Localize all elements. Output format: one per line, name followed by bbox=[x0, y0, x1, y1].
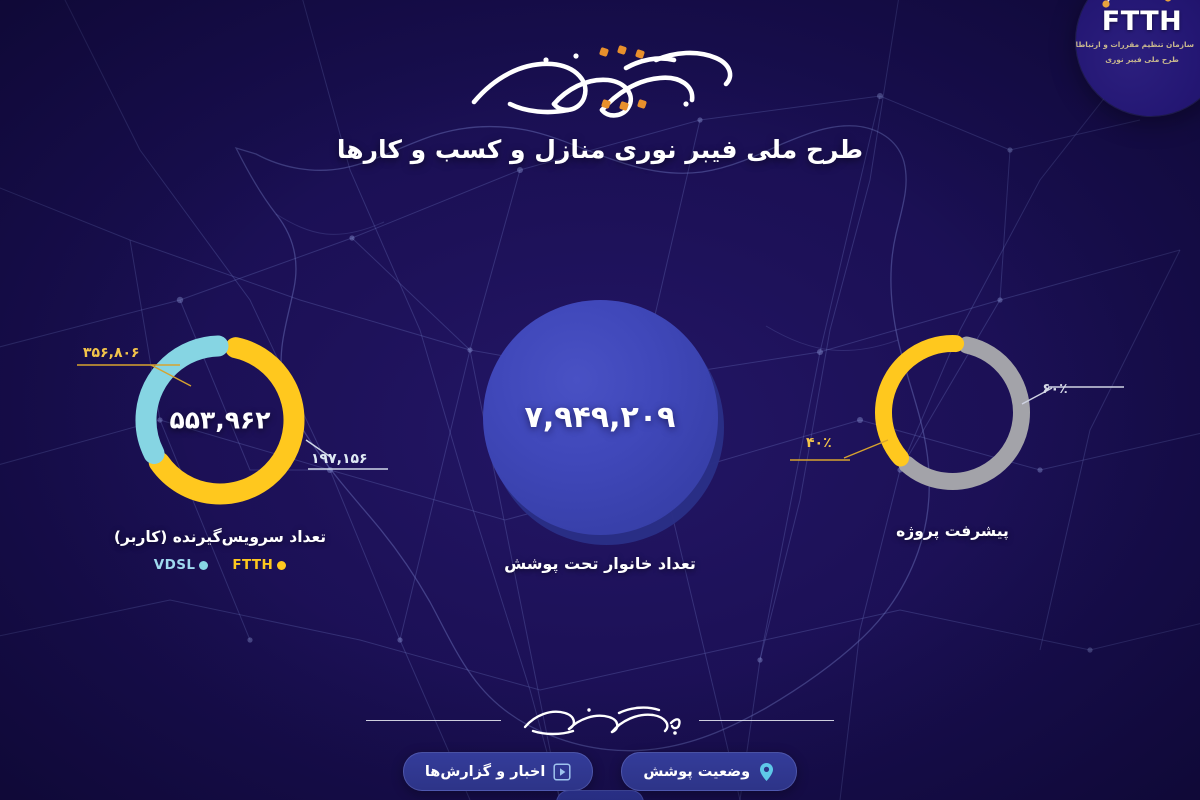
legend-label-vdsl: VDSL bbox=[154, 557, 196, 573]
page-title: طرح ملی فیبر نوری منازل و کسب و کارها bbox=[0, 135, 1200, 164]
progress-caption: پیشرفت پروژه bbox=[845, 522, 1060, 540]
footer-heading-script bbox=[515, 701, 685, 739]
progress-done-leader-line bbox=[788, 432, 893, 468]
progress-remaining-label: ۶۰٪ bbox=[1042, 381, 1068, 397]
legend-label-ftth: FTTH bbox=[232, 557, 273, 573]
subscribers-legend: VDSL FTTH bbox=[95, 557, 345, 573]
legend-item-vdsl: VDSL bbox=[154, 557, 209, 573]
households-caption: تعداد خانوار تحت پوشش bbox=[455, 554, 745, 573]
news-reports-label: اخبار و گزارش‌ها bbox=[425, 764, 546, 780]
legend-item-ftth: FTTH bbox=[232, 557, 286, 573]
households-stat-card: ۷,۹۴۹,۲۰۹ تعداد خانوار تحت پوشش bbox=[455, 300, 745, 573]
progress-remaining-leader-line bbox=[1018, 372, 1128, 412]
calligraphy-slogan bbox=[0, 38, 1200, 130]
legend-dot-vdsl bbox=[199, 561, 208, 570]
households-value: ۷,۹۴۹,۲۰۹ bbox=[525, 400, 676, 435]
ftth-callout-value: ۳۵۶,۸۰۶ bbox=[83, 345, 140, 361]
map-pin-icon bbox=[758, 762, 775, 782]
legend-dot-ftth bbox=[277, 561, 286, 570]
dashboard-stage: FTTH سازمان تنظیم مقررات و ارتباطات رادی… bbox=[0, 0, 1200, 800]
subscribers-caption: تعداد سرویس‌گیرنده (کاربر) bbox=[95, 528, 345, 546]
vdsl-callout-value: ۱۹۷,۱۵۶ bbox=[311, 451, 368, 467]
footer-section: وضعیت پوشش اخبار و گزارش‌ها bbox=[0, 700, 1200, 791]
video-play-icon bbox=[553, 763, 571, 781]
coverage-status-label: وضعیت پوشش bbox=[643, 764, 750, 780]
ftth-callout-leader-line bbox=[75, 336, 205, 388]
scroll-indicator-tab[interactable] bbox=[556, 790, 644, 800]
progress-done-label: ۴۰٪ bbox=[806, 435, 832, 451]
subscribers-total-value: ۵۵۳,۹۶۲ bbox=[125, 406, 315, 435]
coverage-status-button[interactable]: وضعیت پوشش bbox=[621, 752, 797, 791]
progress-donut-chart[interactable] bbox=[865, 325, 1040, 500]
bubble-circle: ۷,۹۴۹,۲۰۹ bbox=[483, 300, 718, 535]
footer-heading-row bbox=[0, 700, 1200, 740]
news-reports-button[interactable]: اخبار و گزارش‌ها bbox=[403, 752, 594, 791]
divider-left bbox=[366, 720, 501, 721]
footer-buttons: وضعیت پوشش اخبار و گزارش‌ها bbox=[0, 752, 1200, 791]
households-bubble-chart[interactable]: ۷,۹۴۹,۲۰۹ bbox=[483, 300, 718, 535]
logo-wordmark: FTTH bbox=[1090, 8, 1194, 35]
divider-right bbox=[699, 720, 834, 721]
